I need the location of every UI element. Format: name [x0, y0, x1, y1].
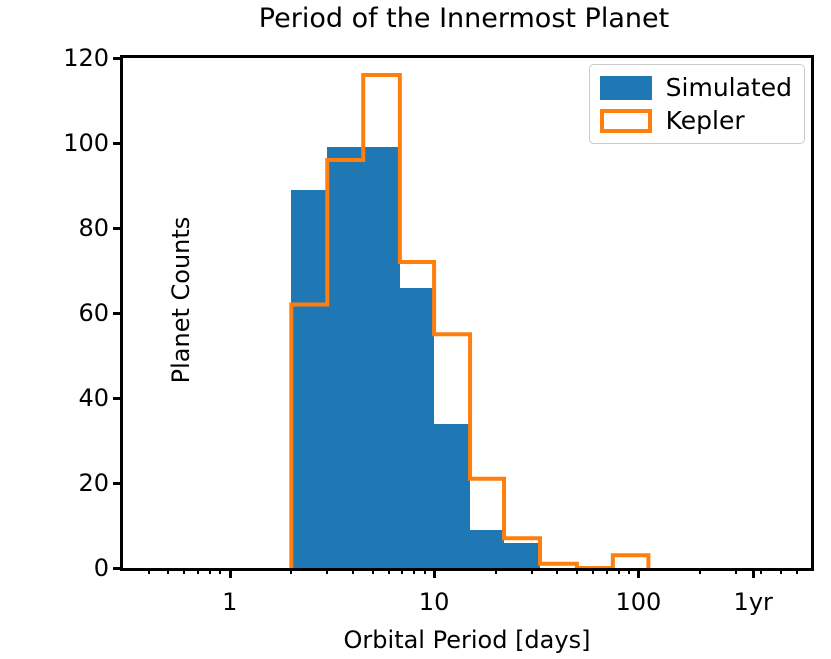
- y-tick-mark: [113, 227, 122, 230]
- x-minor-tick-mark: [401, 568, 403, 574]
- x-minor-tick-mark: [780, 568, 782, 574]
- y-tick-mark: [113, 397, 122, 400]
- x-minor-tick-mark: [628, 568, 630, 574]
- y-tick-label: 60: [49, 299, 123, 327]
- y-tick-mark: [113, 312, 122, 315]
- x-minor-tick-mark: [372, 568, 374, 574]
- x-minor-tick-mark: [699, 568, 701, 574]
- x-minor-tick-mark: [760, 568, 762, 574]
- y-tick-mark: [113, 567, 122, 570]
- x-minor-tick-mark: [183, 568, 185, 574]
- x-minor-tick-mark: [326, 568, 328, 574]
- x-tick-mark: [637, 568, 640, 578]
- x-tick-mark: [229, 568, 232, 578]
- legend-swatch-icon: [600, 76, 652, 100]
- legend-swatch-icon: [600, 109, 652, 133]
- x-minor-tick-mark: [735, 568, 737, 574]
- x-minor-tick-mark: [592, 568, 594, 574]
- y-tick-label: 80: [49, 214, 123, 242]
- x-minor-tick-mark: [576, 568, 578, 574]
- x-minor-tick-mark: [424, 568, 426, 574]
- x-minor-tick-mark: [606, 568, 608, 574]
- legend-label: Simulated: [666, 73, 792, 102]
- x-minor-tick-mark: [556, 568, 558, 574]
- y-tick-label: 0: [49, 554, 123, 582]
- y-tick-label: 100: [49, 129, 123, 157]
- x-tick-label: 100: [615, 588, 661, 616]
- x-minor-tick-mark: [796, 568, 798, 574]
- figure: Period of the Innermost Planet Planet Co…: [0, 0, 831, 659]
- chart-title: Period of the Innermost Planet: [120, 4, 808, 34]
- x-tick-label: 10: [419, 588, 450, 616]
- x-minor-tick-mark: [413, 568, 415, 574]
- x-minor-tick-mark: [352, 568, 354, 574]
- legend-label: Kepler: [666, 106, 745, 135]
- y-tick-label: 20: [49, 469, 123, 497]
- x-minor-tick-mark: [197, 568, 199, 574]
- x-minor-tick-mark: [495, 568, 497, 574]
- legend: SimulatedKepler: [589, 64, 805, 144]
- y-tick-mark: [113, 142, 122, 145]
- x-tick-mark: [752, 568, 755, 578]
- kepler-step-path: [291, 75, 648, 568]
- x-minor-tick-mark: [209, 568, 211, 574]
- x-minor-tick-mark: [290, 568, 292, 574]
- x-minor-tick-mark: [219, 568, 221, 574]
- y-tick-mark: [113, 57, 122, 60]
- y-tick-label: 120: [49, 44, 123, 72]
- x-tick-label: 1: [222, 588, 237, 616]
- plot-area: Planet Counts 020406080100120 1101001yr …: [120, 55, 814, 571]
- y-tick-mark: [113, 482, 122, 485]
- x-axis-label: Orbital Period [days]: [123, 626, 811, 654]
- x-minor-tick-mark: [388, 568, 390, 574]
- legend-item[interactable]: Kepler: [600, 106, 792, 135]
- x-minor-tick-mark: [618, 568, 620, 574]
- legend-item[interactable]: Simulated: [600, 73, 792, 102]
- x-tick-label: 1yr: [734, 588, 773, 616]
- x-minor-tick-mark: [148, 568, 150, 574]
- x-minor-tick-mark: [167, 568, 169, 574]
- x-tick-mark: [433, 568, 436, 578]
- y-tick-label: 40: [49, 384, 123, 412]
- x-minor-tick-mark: [531, 568, 533, 574]
